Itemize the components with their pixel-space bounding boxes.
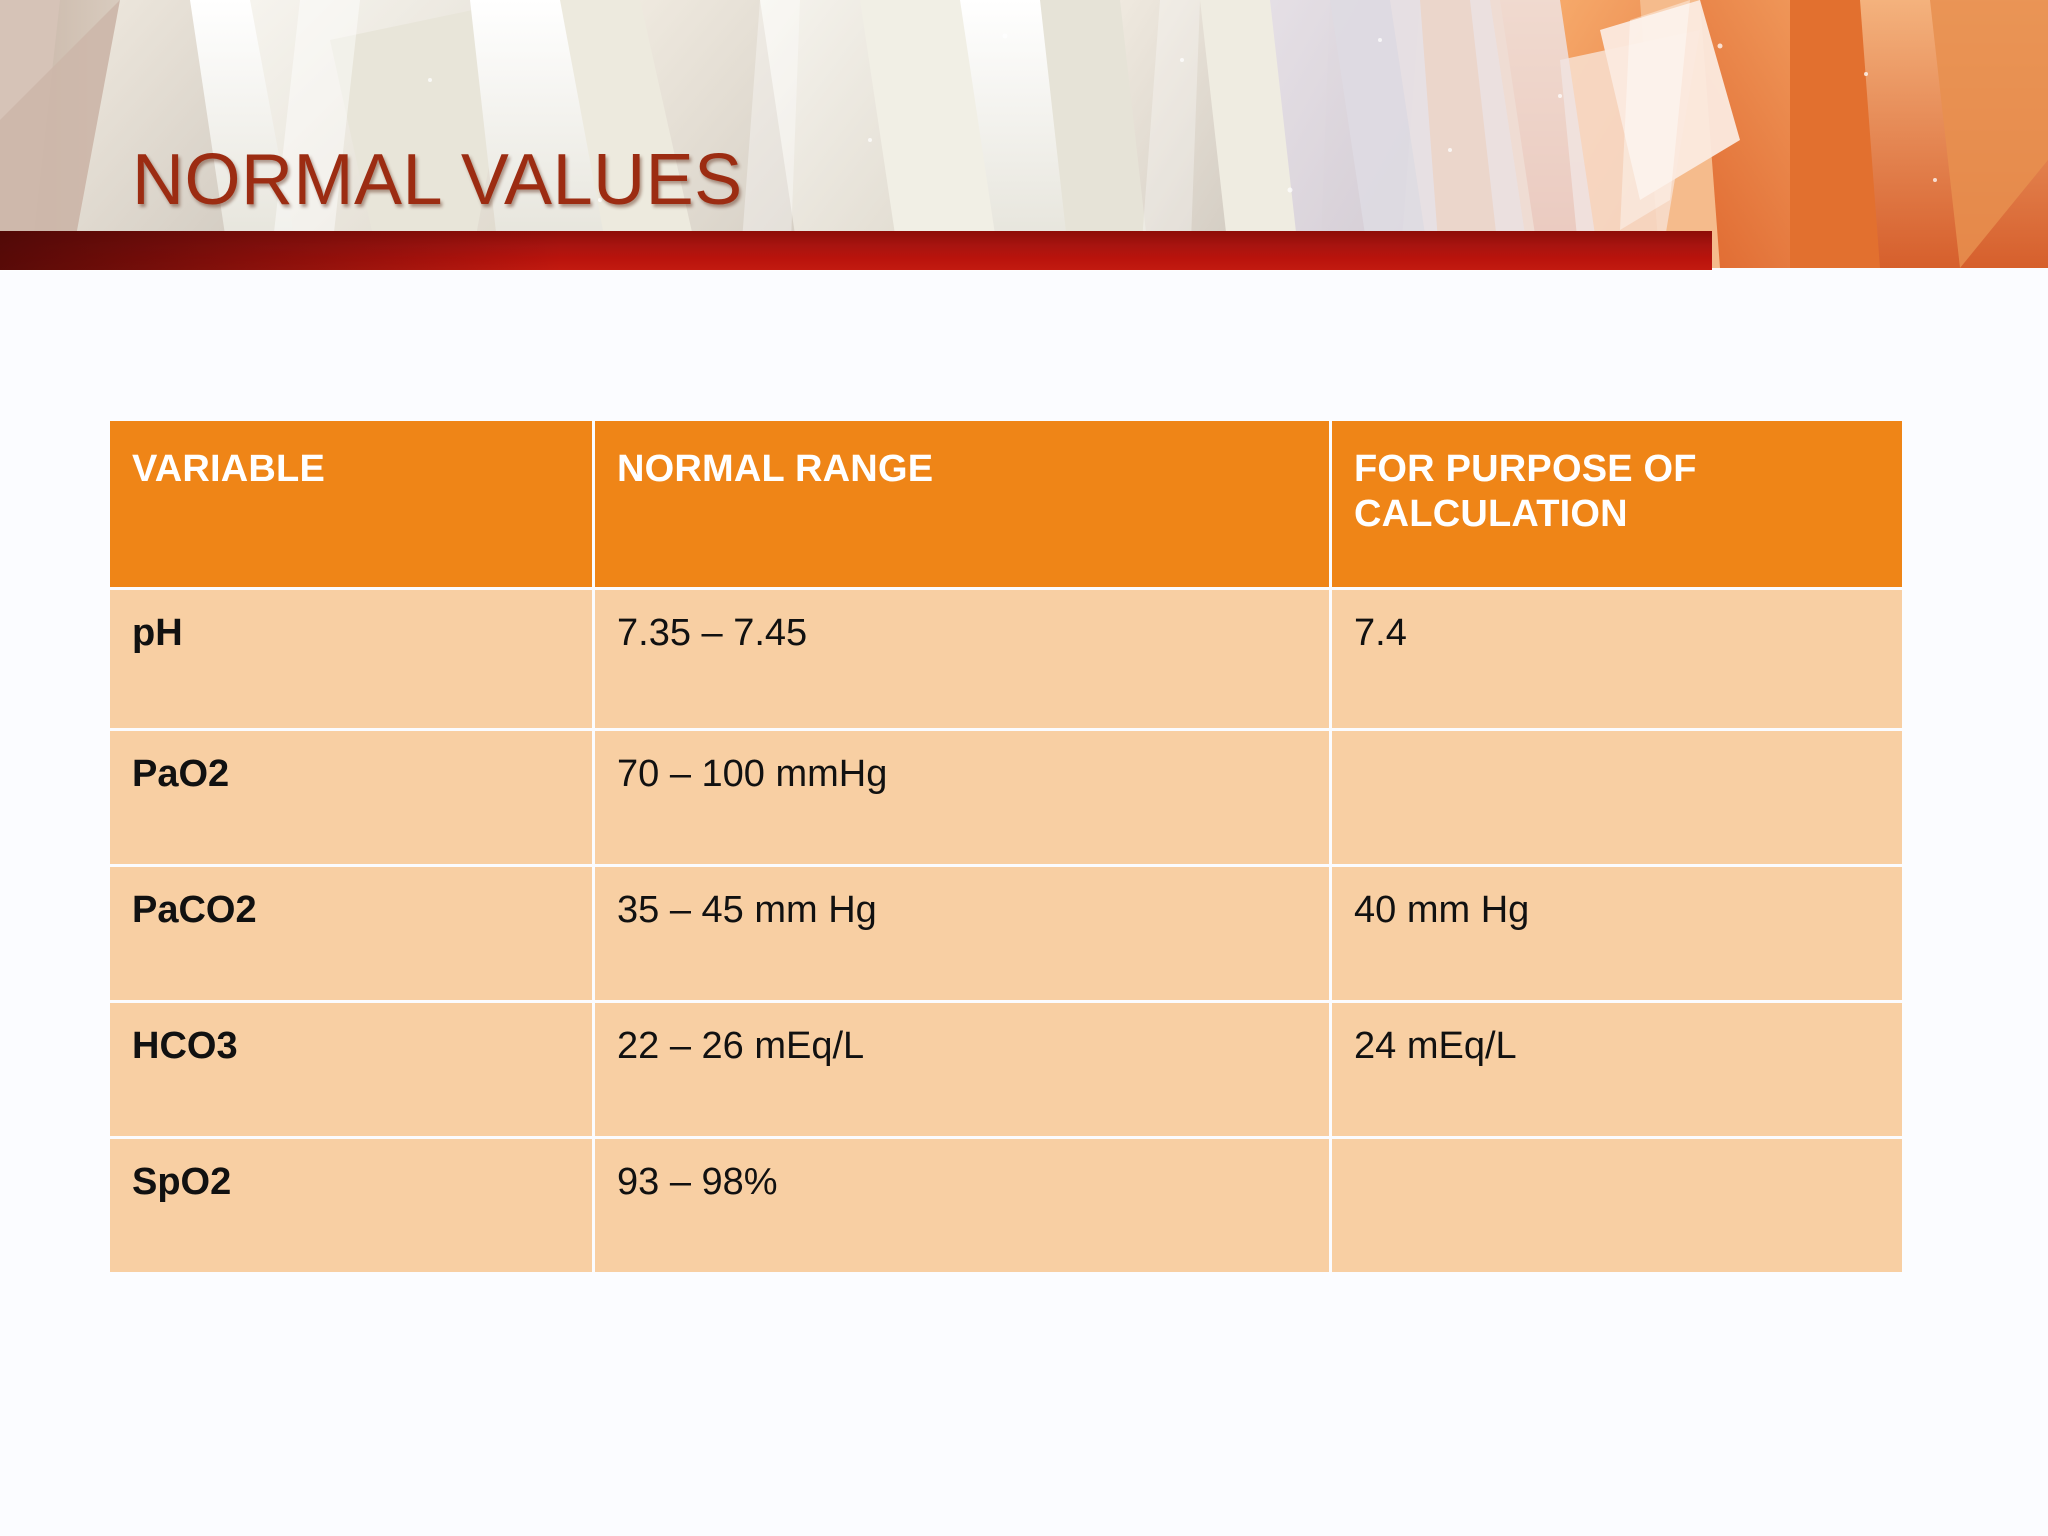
table-header-row: VARIABLE NORMAL RANGE FOR PURPOSE OF CAL… [110, 421, 1902, 587]
table-row: PaCO2 35 – 45 mm Hg 40 mm Hg [110, 867, 1902, 1000]
normal-values-table: VARIABLE NORMAL RANGE FOR PURPOSE OF CAL… [107, 418, 1905, 1275]
cell-normal-range: 70 – 100 mmHg [595, 731, 1329, 864]
cell-variable: PaCO2 [110, 867, 592, 1000]
table-body: pH 7.35 – 7.45 7.4 PaO2 70 – 100 mmHg Pa… [110, 590, 1902, 1272]
cell-variable: HCO3 [110, 1003, 592, 1136]
table-row: SpO2 93 – 98% [110, 1139, 1902, 1272]
cell-calculation: 40 mm Hg [1332, 867, 1902, 1000]
decorative-polygon-banner [0, 0, 2048, 268]
cell-calculation [1332, 1139, 1902, 1272]
column-header-calculation: FOR PURPOSE OF CALCULATION [1332, 421, 1902, 587]
page-title: NORMAL VALUES [132, 139, 743, 221]
column-header-normal-range: NORMAL RANGE [595, 421, 1329, 587]
cell-calculation [1332, 731, 1902, 864]
cell-variable: SpO2 [110, 1139, 592, 1272]
cell-normal-range: 35 – 45 mm Hg [595, 867, 1329, 1000]
polygon-art-icon [0, 0, 2048, 268]
normal-values-table-wrapper: VARIABLE NORMAL RANGE FOR PURPOSE OF CAL… [107, 418, 1898, 1275]
column-header-variable: VARIABLE [110, 421, 592, 587]
cell-variable: PaO2 [110, 731, 592, 864]
slide-canvas: NORMAL VALUES VARIABLE NORMAL RANGE FOR … [0, 0, 2048, 1536]
red-accent-bar [0, 231, 1712, 270]
cell-normal-range: 93 – 98% [595, 1139, 1329, 1272]
cell-normal-range: 22 – 26 mEq/L [595, 1003, 1329, 1136]
cell-calculation: 24 mEq/L [1332, 1003, 1902, 1136]
cell-variable: pH [110, 590, 592, 728]
table-header: VARIABLE NORMAL RANGE FOR PURPOSE OF CAL… [110, 421, 1902, 587]
table-row: pH 7.35 – 7.45 7.4 [110, 590, 1902, 728]
table-row: PaO2 70 – 100 mmHg [110, 731, 1902, 864]
cell-calculation: 7.4 [1332, 590, 1902, 728]
cell-normal-range: 7.35 – 7.45 [595, 590, 1329, 728]
table-row: HCO3 22 – 26 mEq/L 24 mEq/L [110, 1003, 1902, 1136]
